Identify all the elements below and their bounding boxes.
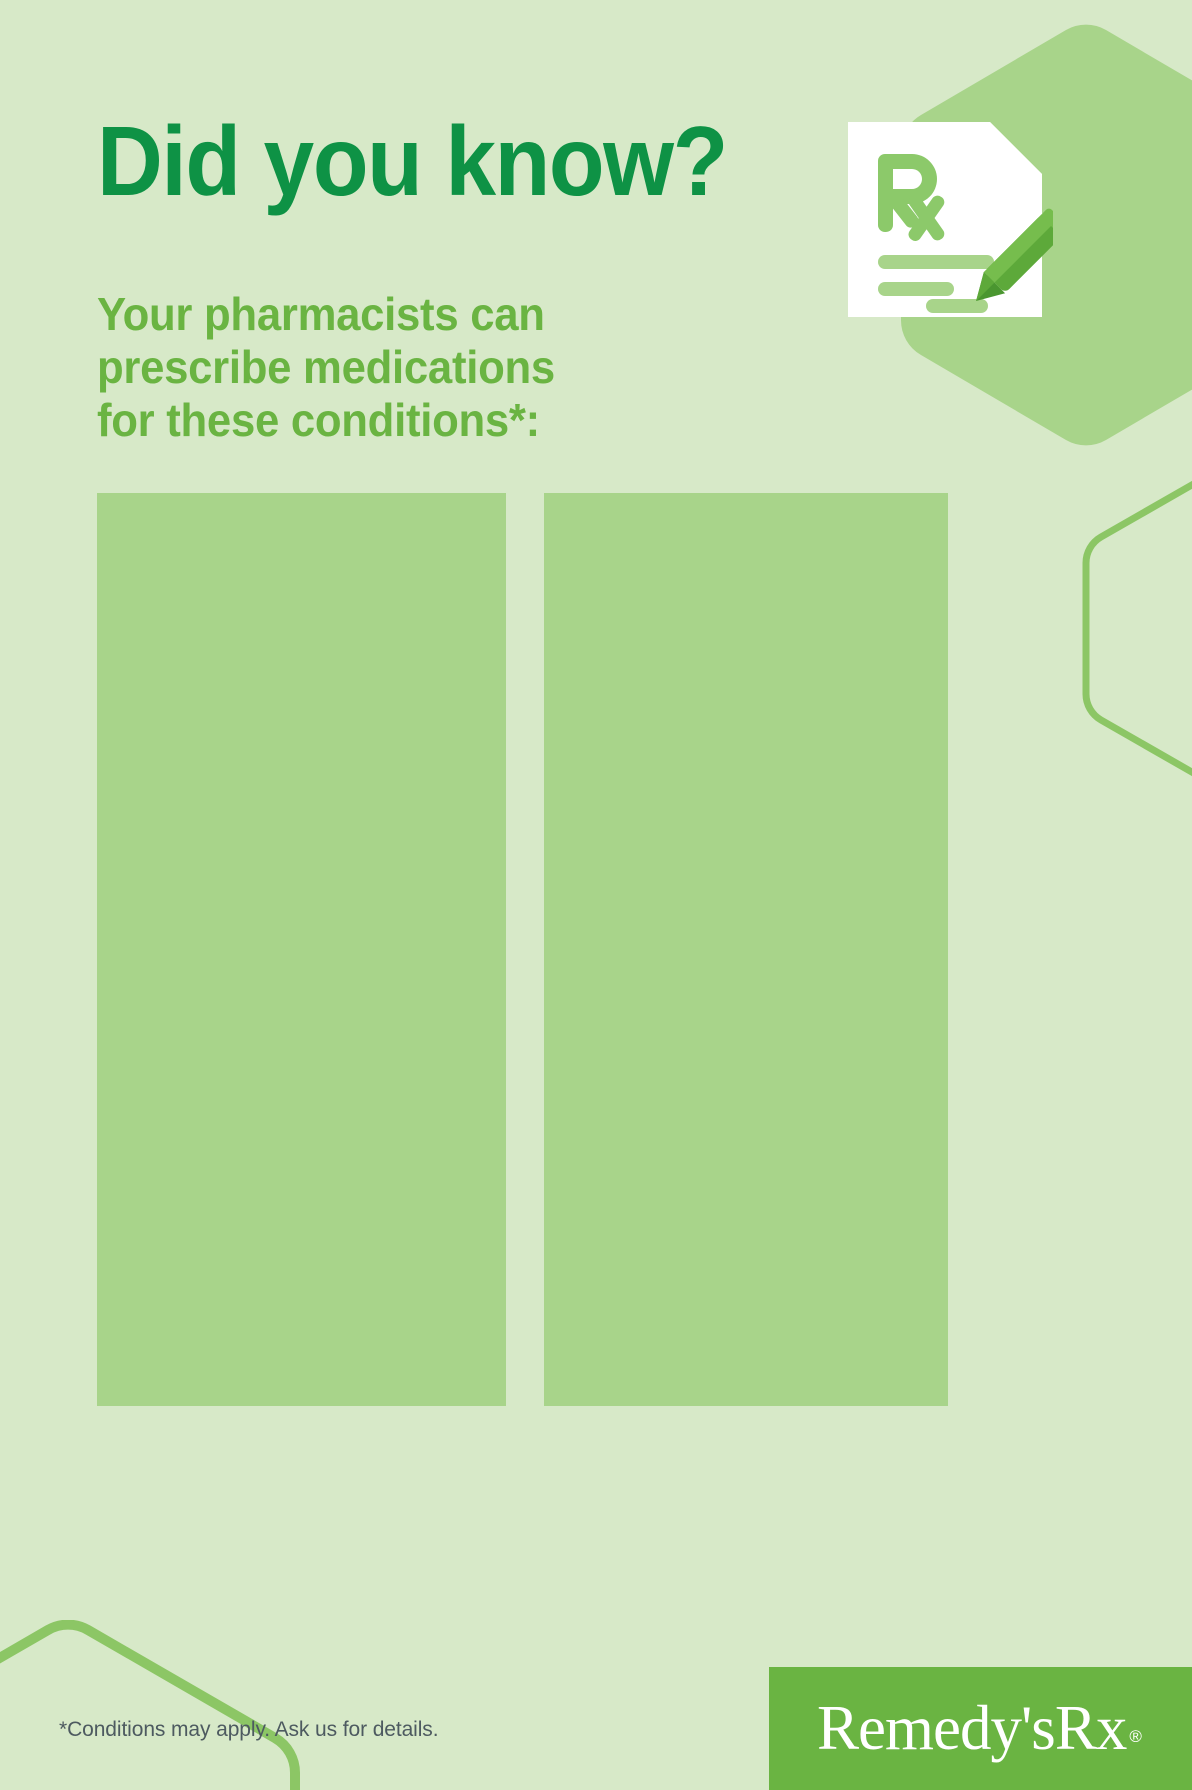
subheading-line-3: for these conditions*: — [97, 394, 555, 447]
footnote-text: *Conditions may apply. Ask us for detail… — [59, 1717, 438, 1743]
page-headline: Did you know? — [97, 112, 727, 210]
hexagon-outline-bottom-left — [0, 1620, 346, 1790]
prescription-document-icon — [838, 112, 1053, 327]
document-line-1 — [878, 255, 994, 269]
poster-canvas: Did you know? Your pharmacists can presc… — [0, 0, 1192, 1790]
page-subheading: Your pharmacists can prescribe medicatio… — [97, 288, 555, 447]
subheading-line-1: Your pharmacists can — [97, 288, 555, 341]
subheading-line-2: prescribe medications — [97, 341, 555, 394]
brand-logo-block: Remedy'sRx® — [769, 1667, 1192, 1790]
conditions-panel-left — [97, 493, 506, 1406]
registered-trademark-icon: ® — [1129, 1727, 1141, 1747]
document-line-2 — [878, 282, 954, 296]
conditions-panel-right — [544, 493, 948, 1406]
signature-line — [926, 299, 988, 313]
brand-wordmark-text: Remedy'sRx — [817, 1692, 1126, 1765]
hexagon-outline-right-edge — [1056, 432, 1192, 812]
brand-wordmark: Remedy'sRx® — [769, 1667, 1192, 1790]
